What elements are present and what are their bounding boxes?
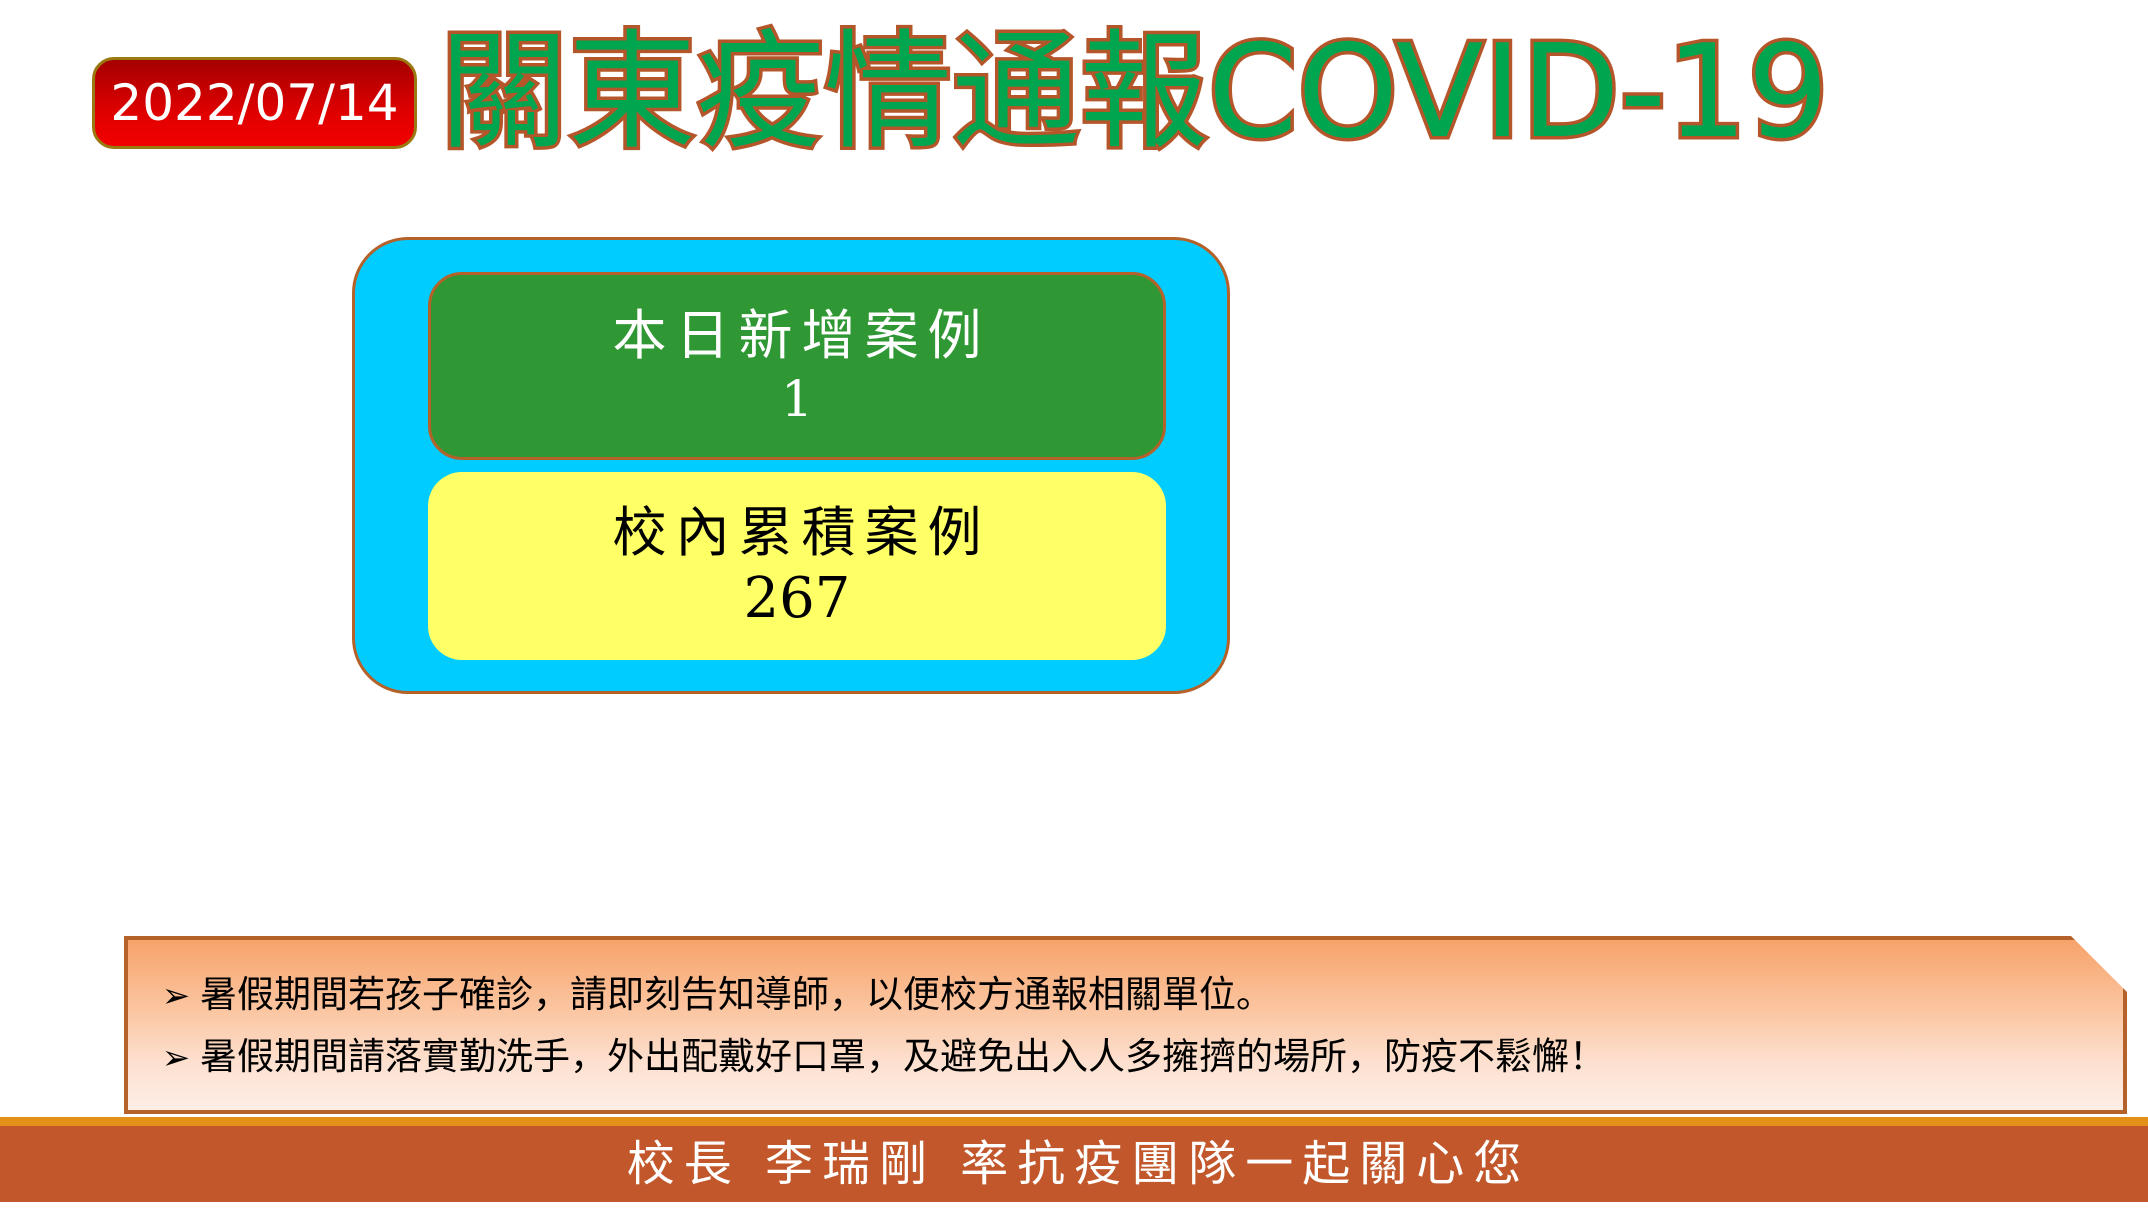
date-badge-label: 2022/07/14 [110, 78, 398, 128]
arrow-bullet-icon: ➢ [152, 1038, 200, 1078]
note-item: ➢ 暑假期間若孩子確診，請即刻告知導師，以便校方通報相關單位。 [152, 964, 2123, 1026]
note-item: ➢ 暑假期間請落實勤洗手，外出配戴好口罩，及避免出入人多擁擠的場所，防疫不鬆懈！ [152, 1026, 2123, 1088]
new-cases-value: 1 [781, 369, 813, 429]
page-title: 關東疫情通報COVID-19 [440, 18, 2100, 178]
new-cases-card: 本日新增案例 1 [428, 272, 1166, 460]
footer-bar: 校長 李瑞剛 率抗疫團隊一起關心您 [0, 1117, 2148, 1202]
cumulative-cases-value: 267 [744, 566, 851, 632]
header: 2022/07/14 關東疫情通報COVID-19 [0, 0, 2148, 190]
cumulative-cases-card: 校內累積案例 267 [428, 472, 1166, 660]
note-text: 暑假期間請落實勤洗手，外出配戴好口罩，及避免出入人多擁擠的場所，防疫不鬆懈！ [200, 1026, 1606, 1088]
arrow-bullet-icon: ➢ [152, 976, 200, 1016]
cumulative-cases-label: 校內累積案例 [604, 500, 991, 566]
footer-message: 校長 李瑞剛 率抗疫團隊一起關心您 [618, 1140, 1531, 1188]
date-badge: 2022/07/14 [92, 57, 417, 149]
notes-panel: ➢ 暑假期間若孩子確診，請即刻告知導師，以便校方通報相關單位。 ➢ 暑假期間請落… [124, 936, 2127, 1114]
note-text: 暑假期間若孩子確診，請即刻告知導師，以便校方通報相關單位。 [200, 964, 1273, 1026]
new-cases-label: 本日新增案例 [604, 303, 991, 369]
